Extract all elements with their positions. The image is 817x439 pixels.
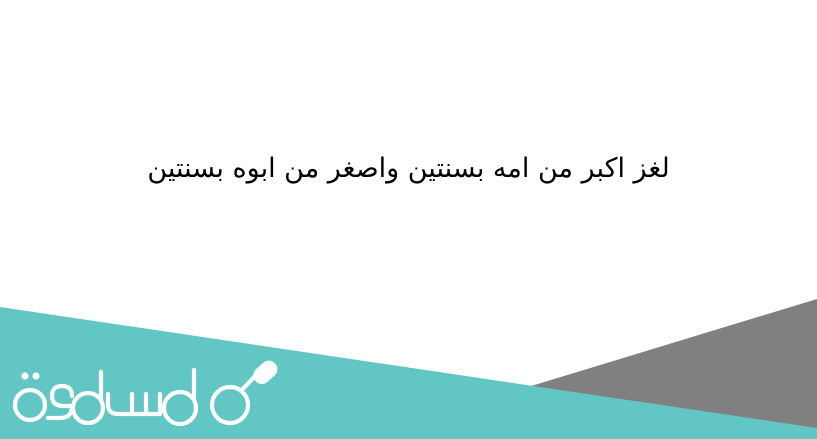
logo-ain bbox=[48, 386, 72, 418]
riddle-headline-text: لغز اكبر من امه بسنتين واصغر من ابوه بسن… bbox=[147, 151, 669, 187]
logo-ta-marbuta-dot-left bbox=[32, 372, 39, 379]
logo-waw-loop bbox=[164, 392, 196, 424]
brand-logo[interactable]: موسوعة bbox=[8, 358, 283, 433]
logo-seen bbox=[108, 394, 160, 414]
logo-meem-loop bbox=[212, 387, 248, 423]
headline-area: لغز اكبر من امه بسنتين واصغر من ابوه بسن… bbox=[0, 0, 817, 300]
logo-waw2-loop bbox=[73, 393, 103, 423]
magnifier-pen-icon bbox=[250, 358, 281, 387]
logo-ta-marbuta-dot-right bbox=[21, 372, 28, 379]
footer-banner: موسوعة bbox=[0, 280, 817, 439]
brand-logo-svg bbox=[8, 358, 283, 433]
logo-ta-marbuta-loop bbox=[15, 390, 45, 420]
screenshot-canvas: لغز اكبر من امه بسنتين واصغر من ابوه بسن… bbox=[0, 0, 817, 439]
